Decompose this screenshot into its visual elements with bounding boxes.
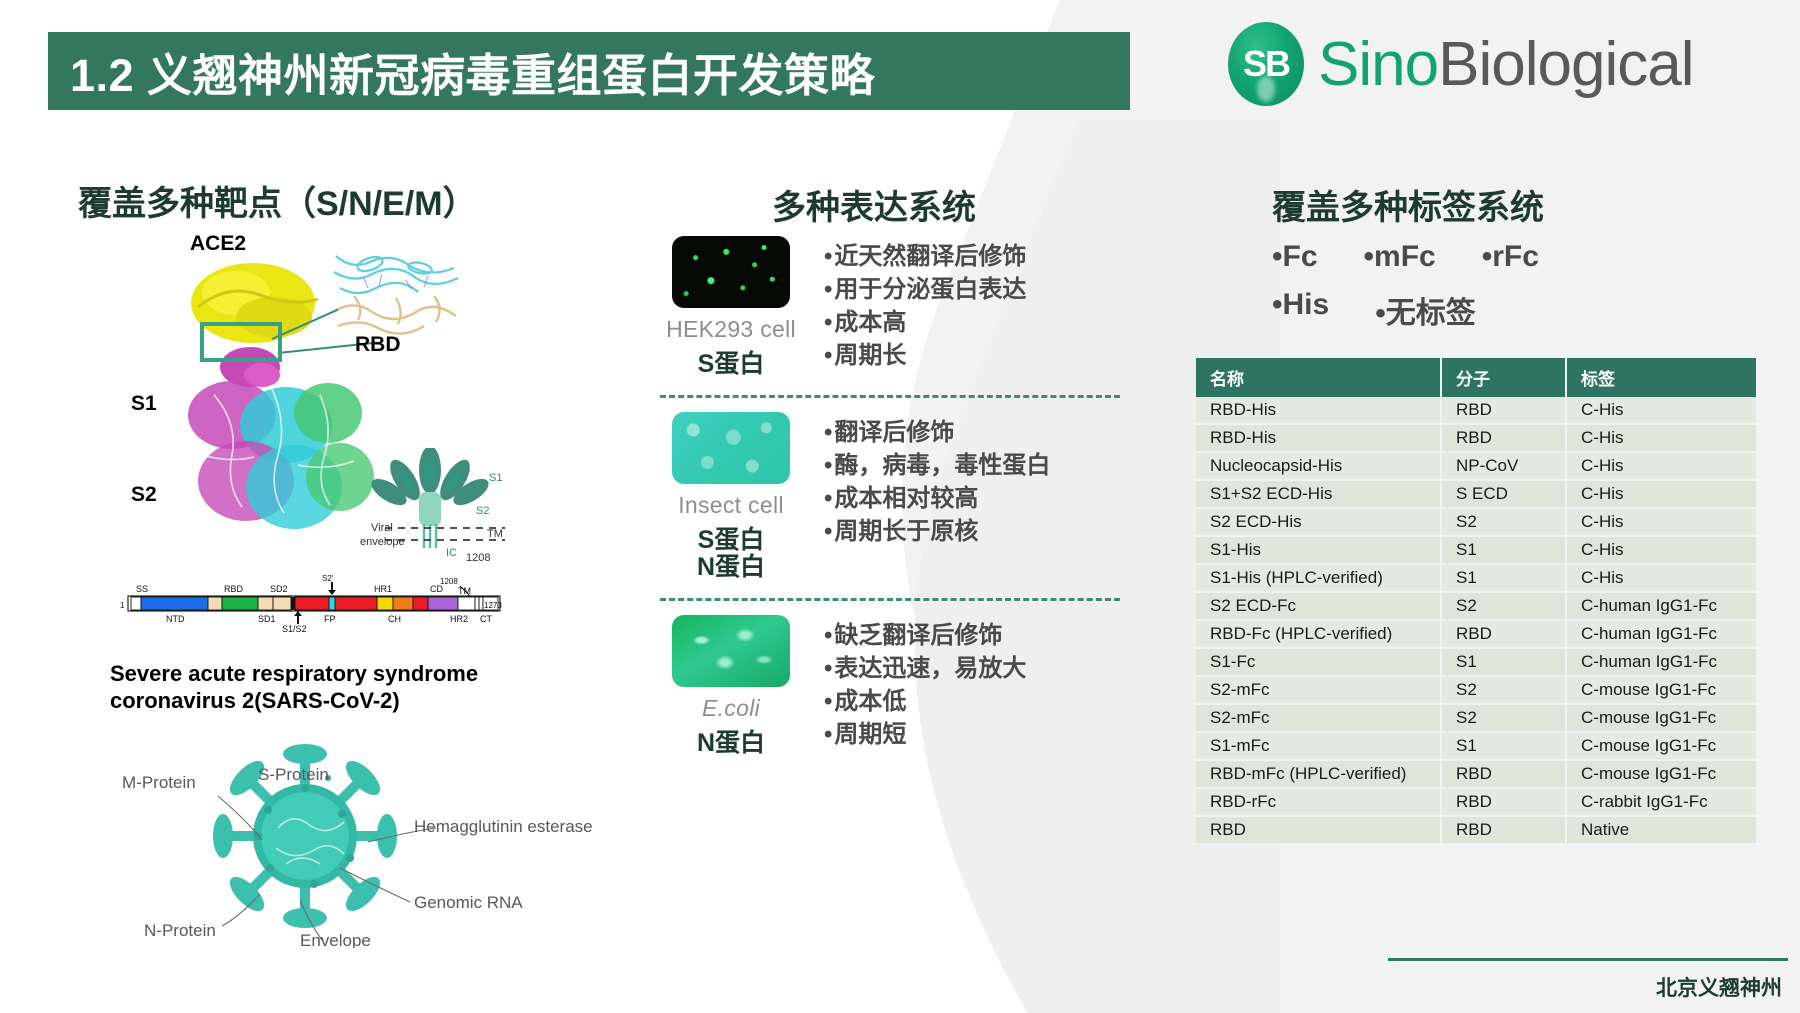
label-ace2: ACE2 [190,232,246,256]
svg-text:NTD: NTD [166,614,185,624]
table-cell: RBD [1441,760,1566,788]
svg-text:SD2: SD2 [270,584,288,594]
table-row: RBDRBDNative [1196,816,1757,844]
table-cell: S2 [1441,704,1566,732]
insect-cell-micrograph-image [672,412,790,484]
table-cell: C-His [1566,564,1757,592]
virus-name-line2: coronavirus 2(SARS-CoV-2) [110,688,580,715]
table-cell: RBD-His [1196,397,1441,424]
svg-text:Envelope: Envelope [300,931,371,948]
brand-logo: SB SinoBiological [1228,22,1693,106]
svg-text:Genomic RNA: Genomic RNA [414,893,523,912]
hek293-protein-0: S蛋白 [660,351,802,379]
table-cell: S1-His (HPLC-verified) [1196,564,1441,592]
table-row: S1-HisS1C-His [1196,536,1757,564]
table-row: RBD-HisRBDC-His [1196,424,1757,452]
table-cell: S2-mFc [1196,704,1441,732]
expression-system-insect: Insect cell S蛋白 N蛋白 翻译后修饰 酶，病毒，毒性蛋白 成本相对… [660,404,1110,592]
table-row: S1-mFcS1C-mouse IgG1-Fc [1196,732,1757,760]
insect-bullet-3: 周期长于原核 [824,515,1050,548]
hek293-bullets: 近天然翻译后修饰 用于分泌蛋白表达 成本高 周期长 [824,236,1026,379]
table-cell: S2 ECD-His [1196,508,1441,536]
tag-rfc: rFc [1482,240,1539,274]
rbd-interface-inset-image [330,248,460,338]
hek293-bullet-0: 近天然翻译后修饰 [824,240,1026,273]
coronavirus-illustration: S-Protein M-Protein N-Protein Hemaggluti… [100,718,640,948]
table-cell: RBD [1441,397,1566,424]
table-cell: S1 [1441,564,1566,592]
spike-label-s2: S2 [476,505,489,517]
page-title: 1.2 义翘神州新冠病毒重组蛋白开发策略 [48,39,875,104]
tag-row-0: Fc mFc rFc [1272,240,1772,274]
table-cell: C-His [1566,397,1757,424]
ecoli-bullet-0: 缺乏翻译后修饰 [824,619,1026,652]
insect-protein-0: S蛋白 [660,527,802,555]
separator-2 [660,598,1120,601]
table-cell: S ECD [1441,480,1566,508]
table-cell: RBD [1441,816,1566,844]
table-cell: S2 ECD-Fc [1196,592,1441,620]
table-row: Nucleocapsid-HisNP-CoVC-His [1196,452,1757,480]
insect-name: Insect cell [660,492,802,519]
table-cell: RBD-mFc (HPLC-verified) [1196,760,1441,788]
table-row: S1-FcS1C-human IgG1-Fc [1196,648,1757,676]
insect-bullet-0: 翻译后修饰 [824,416,1050,449]
ecoli-bullet-2: 成本低 [824,685,1026,718]
table-row: RBD-HisRBDC-His [1196,397,1757,424]
footer-divider [1388,958,1788,961]
table-cell: S2-mFc [1196,676,1441,704]
table-cell: S1 [1441,536,1566,564]
svg-text:1: 1 [120,601,125,610]
virus-name-title: Severe acute respiratory syndrome corona… [110,661,580,715]
table-cell: C-His [1566,452,1757,480]
insect-bullets: 翻译后修饰 酶，病毒，毒性蛋白 成本相对较高 周期长于原核 [824,412,1050,582]
label-s2: S2 [131,483,157,507]
expression-system-ecoli: E.coli N蛋白 缺乏翻译后修饰 表达迅速，易放大 成本低 周期短 [660,607,1110,768]
col-header-molecule: 分子 [1441,358,1566,397]
svg-text:HR2: HR2 [450,614,468,624]
logo-initials: SB [1243,43,1289,85]
table-cell: RBD [1196,816,1441,844]
table-cell: Native [1566,816,1757,844]
table-cell: S1-Fc [1196,648,1441,676]
svg-text:HR1: HR1 [374,584,392,594]
insect-protein-1: N蛋白 [660,554,802,582]
table-cell: S1+S2 ECD-His [1196,480,1441,508]
svg-text:N-Protein: N-Protein [144,921,216,940]
spike-label-s1: S1 [489,472,502,484]
table-row: S2-mFcS2C-mouse IgG1-Fc [1196,704,1757,732]
table-cell: C-human IgG1-Fc [1566,620,1757,648]
spike-label-envelope: envelope [360,536,405,548]
title-bar: 1.2 义翘神州新冠病毒重组蛋白开发策略 [48,32,1130,110]
separator-1 [660,395,1120,398]
expression-system-hek293: HEK293 cell S蛋白 近天然翻译后修饰 用于分泌蛋白表达 成本高 周期… [660,228,1110,389]
svg-text:SS: SS [136,584,148,594]
ecoli-bullet-1: 表达迅速，易放大 [824,652,1026,685]
hek293-bullet-1: 用于分泌蛋白表达 [824,273,1026,306]
svg-text:SD1: SD1 [258,614,276,624]
table-cell: S2 [1441,592,1566,620]
insect-bullet-2: 成本相对较高 [824,482,1050,515]
table-header-row: 名称 分子 标签 [1196,358,1757,397]
table-cell: C-mouse IgG1-Fc [1566,676,1757,704]
hek293-bullet-2: 成本高 [824,306,1026,339]
svg-text:1208: 1208 [440,577,458,586]
spike-label-tm: TM [487,528,503,540]
protein-products-table: 名称 分子 标签 RBD-HisRBDC-HisRBD-HisRBDC-HisN… [1196,358,1758,845]
spike-domain-diagram: 1 1273 SS RBD SD2 S2' HR1 CD TM 1208 NTD… [110,572,510,634]
virus-name-line1: Severe acute respiratory syndrome [110,661,580,688]
svg-text:M-Protein: M-Protein [122,773,196,792]
label-rbd: RBD [355,333,401,357]
svg-text:1273: 1273 [484,601,502,610]
tag-systems-column: Fc mFc rFc His 无标签 [1272,240,1772,346]
ecoli-name: E.coli [660,695,802,722]
svg-text:CT: CT [480,614,492,624]
table-row: S1-His (HPLC-verified)S1C-His [1196,564,1757,592]
table-cell: C-mouse IgG1-Fc [1566,732,1757,760]
svg-text:S-Protein: S-Protein [258,765,329,784]
label-s1: S1 [131,392,157,416]
table-cell: RBD-His [1196,424,1441,452]
table-row: S1+S2 ECD-HisS ECDC-His [1196,480,1757,508]
spike-label-1208: 1208 [466,552,490,564]
table-cell: S1-mFc [1196,732,1441,760]
svg-text:FP: FP [324,614,336,624]
heading-expression-systems: 多种表达系统 [772,180,976,229]
table-row: S2 ECD-HisS2C-His [1196,508,1757,536]
table-cell: C-mouse IgG1-Fc [1566,760,1757,788]
table-row: S2-mFcS2C-mouse IgG1-Fc [1196,676,1757,704]
col-header-name: 名称 [1196,358,1441,397]
table-cell: S2 [1441,508,1566,536]
svg-text:S2': S2' [322,574,334,583]
table-cell: S1-His [1196,536,1441,564]
hek293-name: HEK293 cell [660,316,802,343]
ecoli-bullet-3: 周期短 [824,718,1026,751]
table-cell: C-human IgG1-Fc [1566,648,1757,676]
tag-his: His [1272,288,1329,332]
sb-logo-icon: SB [1228,22,1304,106]
table-row: RBD-Fc (HPLC-verified)RBDC-human IgG1-Fc [1196,620,1757,648]
insect-bullet-1: 酶，病毒，毒性蛋白 [824,449,1050,482]
table-cell: RBD [1441,788,1566,816]
table-cell: Nucleocapsid-His [1196,452,1441,480]
table-cell: RBD [1441,424,1566,452]
hek293-caption: HEK293 cell S蛋白 [660,236,802,379]
table-row: S2 ECD-FcS2C-human IgG1-Fc [1196,592,1757,620]
table-cell: RBD-rFc [1196,788,1441,816]
table-cell: RBD-Fc (HPLC-verified) [1196,620,1441,648]
rbd-highlight-box [200,322,282,362]
table-cell: C-mouse IgG1-Fc [1566,704,1757,732]
tag-mfc: mFc [1364,240,1436,274]
hek293-bullet-3: 周期长 [824,339,1026,372]
svg-text:RBD: RBD [224,584,244,594]
table-row: RBD-rFcRBDC-rabbit IgG1-Fc [1196,788,1757,816]
table-cell: NP-CoV [1441,452,1566,480]
logo-word-sino: Sino [1318,30,1438,99]
heading-tag-systems: 覆盖多种标签系统 [1272,180,1544,229]
table-cell: C-His [1566,536,1757,564]
logo-wordmark: SinoBiological [1318,29,1693,100]
footer-company: 北京义翘神州 [1656,972,1782,1002]
tag-none: 无标签 [1375,288,1476,332]
tag-row-1: His 无标签 [1272,288,1772,332]
svg-text:S1/S2: S1/S2 [282,624,307,634]
ecoli-caption: E.coli N蛋白 [660,615,802,758]
slide-canvas: 1.2 义翘神州新冠病毒重组蛋白开发策略 SB SinoBiological 覆… [0,0,1800,1013]
heading-targets: 覆盖多种靶点（S/N/E/M） [78,176,477,225]
table-cell: S1 [1441,648,1566,676]
table-cell: RBD [1441,620,1566,648]
spike-label-ic: IC [446,547,457,559]
col-header-tag: 标签 [1566,358,1757,397]
expression-systems-column: HEK293 cell S蛋白 近天然翻译后修饰 用于分泌蛋白表达 成本高 周期… [660,228,1110,767]
logo-word-biological: Biological [1438,30,1693,99]
ecoli-protein-0: N蛋白 [660,730,802,758]
table-cell: S2 [1441,676,1566,704]
insect-caption: Insect cell S蛋白 N蛋白 [660,412,802,582]
table-cell: C-His [1566,424,1757,452]
table-cell: C-His [1566,480,1757,508]
spike-label-viral: Viral [371,522,393,534]
svg-text:TM: TM [458,586,471,596]
table-cell: C-rabbit IgG1-Fc [1566,788,1757,816]
table-cell: S1 [1441,732,1566,760]
tag-fc: Fc [1272,240,1318,274]
ecoli-micrograph-image [672,615,790,687]
svg-text:CH: CH [388,614,401,624]
table-row: RBD-mFc (HPLC-verified)RBDC-mouse IgG1-F… [1196,760,1757,788]
ecoli-bullets: 缺乏翻译后修饰 表达迅速，易放大 成本低 周期短 [824,615,1026,758]
hek293-micrograph-image [672,236,790,308]
table-body: RBD-HisRBDC-HisRBD-HisRBDC-HisNucleocaps… [1196,397,1757,844]
table-cell: C-human IgG1-Fc [1566,592,1757,620]
svg-text:Hemagglutinin esterase: Hemagglutinin esterase [414,817,593,836]
table-cell: C-His [1566,508,1757,536]
